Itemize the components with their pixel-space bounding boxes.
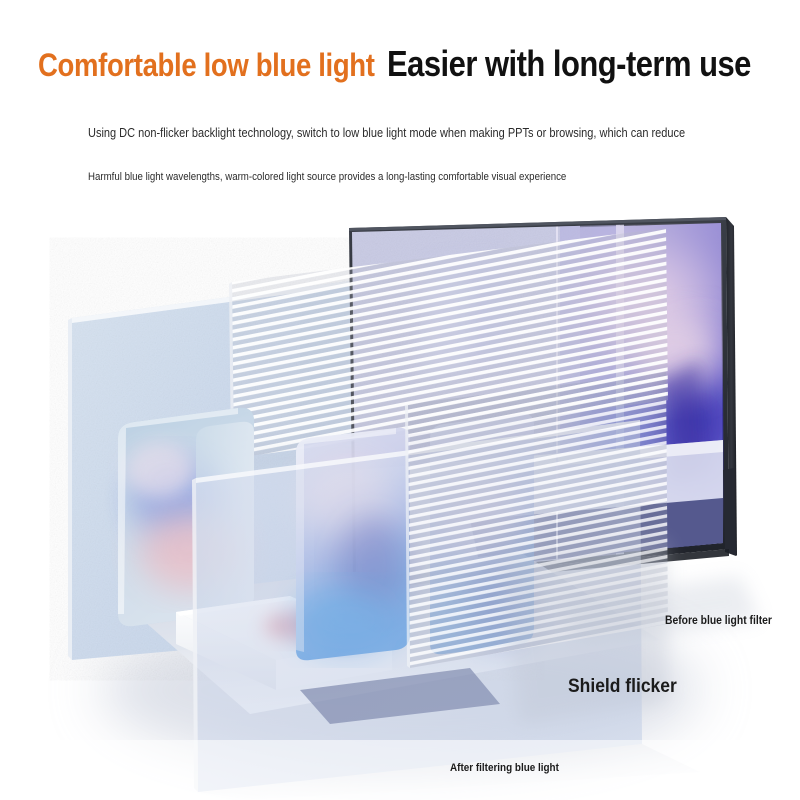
callout-after-filtering-blue-light: After filtering blue light [450,762,559,774]
title-main: Easier with long-term use [387,46,751,82]
subtitle-line-2: Harmful blue light wavelengths, warm-col… [88,171,566,183]
title-highlight: Comfortable low blue light [38,49,375,81]
header: Comfortable low blue light Easier with l… [0,0,800,200]
page-title: Comfortable low blue light Easier with l… [38,46,800,82]
callout-shield-flicker: Shield flicker [568,676,677,698]
subtitle-line-1: Using DC non-flicker backlight technolog… [88,126,685,140]
callout-before-blue-light-filter: Before blue light filter [665,615,772,627]
bottom-fade [0,740,800,800]
